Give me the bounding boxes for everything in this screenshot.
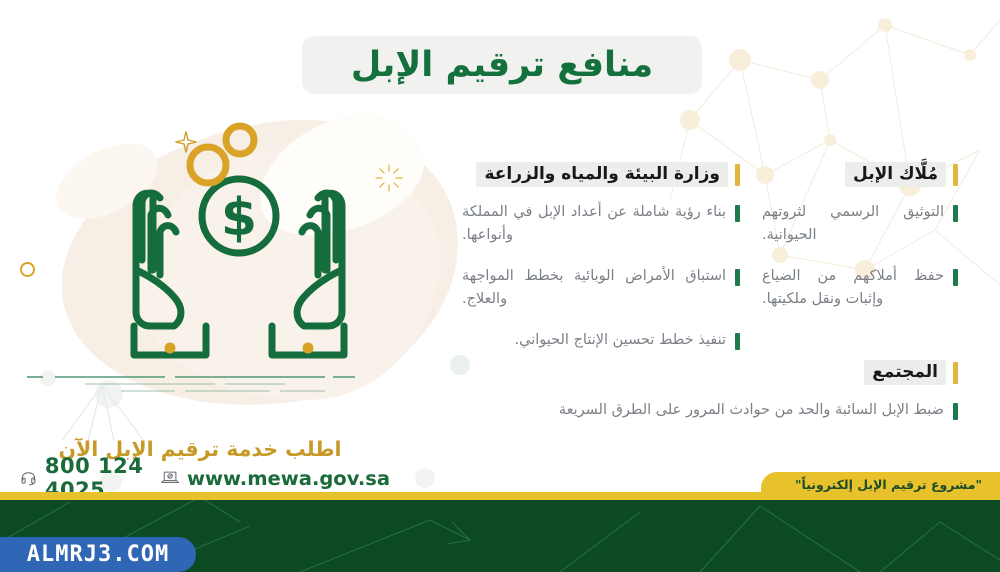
bullet-text: استباق الأمراض الوبائية بخطط المواجهة وا…	[462, 265, 726, 312]
bullet-item: تنفيذ خطط تحسين الإنتاج الحيواني.	[462, 329, 740, 352]
bullet-text: حفظ أملاكهم من الضياع وإثبات ونقل ملكيته…	[762, 265, 944, 312]
bullet-accent-bar	[953, 205, 958, 222]
bullet-accent-bar	[953, 403, 958, 420]
bullet-accent-bar	[735, 269, 740, 286]
section-heading-society: المجتمع	[462, 360, 958, 385]
section-heading-ministry: وزارة البيئة والمياه والزراعة	[462, 162, 740, 187]
bullet-item: بناء رؤية شاملة عن أعداد الإبل في المملك…	[462, 201, 740, 248]
infographic-canvas: منافع ترقيم الإبل $	[0, 0, 1000, 572]
cta-contact-row: 800 124 4025 www.mewa.gov.sa	[20, 464, 390, 492]
bullet-item: التوثيق الرسمي لثروتهم الحيوانية.	[762, 201, 958, 248]
hands-holding-coin-illustration: $	[120, 120, 410, 390]
bullet-text: ضبط الإبل السائبة والحد من حوادث المرور …	[462, 399, 944, 422]
bullet-text: تنفيذ خطط تحسين الإنتاج الحيواني.	[462, 329, 726, 352]
project-tag-text: "مشروع ترقيم الإبل إلكترونياً"	[795, 477, 982, 492]
watermark-text: ALMRJ3.COM	[27, 542, 169, 567]
svg-text:$: $	[221, 188, 257, 248]
watermark-badge: ALMRJ3.COM	[0, 537, 196, 572]
section-society: المجتمع ضبط الإبل السائبة والحد من حوادث…	[462, 360, 958, 439]
heading-accent-bar	[953, 164, 958, 186]
section-heading-label: المجتمع	[864, 360, 946, 385]
section-heading-owners: مُلَّاك الإبل	[762, 162, 958, 187]
light-rays-decor	[44, 383, 164, 443]
bullet-text: بناء رؤية شاملة عن أعداد الإبل في المملك…	[462, 201, 726, 248]
laptop-icon	[161, 467, 179, 489]
headset-icon	[20, 465, 37, 491]
section-owners: مُلَّاك الإبل التوثيق الرسمي لثروتهم الح…	[762, 162, 958, 329]
cta-website[interactable]: www.mewa.gov.sa	[187, 467, 390, 490]
bullet-item: حفظ أملاكهم من الضياع وإثبات ونقل ملكيته…	[762, 265, 958, 312]
section-heading-label: مُلَّاك الإبل	[845, 162, 946, 187]
decor-ring-gold	[20, 262, 35, 277]
bullet-accent-bar	[735, 333, 740, 350]
bullet-item: ضبط الإبل السائبة والحد من حوادث المرور …	[462, 399, 958, 422]
bullet-item: استباق الأمراض الوبائية بخطط المواجهة وا…	[462, 265, 740, 312]
page-title: منافع ترقيم الإبل	[302, 36, 702, 94]
decor-dot-5	[415, 468, 435, 488]
section-ministry: وزارة البيئة والمياه والزراعة بناء رؤية …	[462, 162, 740, 369]
heading-accent-bar	[953, 362, 958, 384]
section-heading-label: وزارة البيئة والمياه والزراعة	[476, 162, 728, 187]
bullet-accent-bar	[735, 205, 740, 222]
bullet-text: التوثيق الرسمي لثروتهم الحيوانية.	[762, 201, 944, 248]
heading-accent-bar	[735, 164, 740, 186]
bullet-accent-bar	[953, 269, 958, 286]
